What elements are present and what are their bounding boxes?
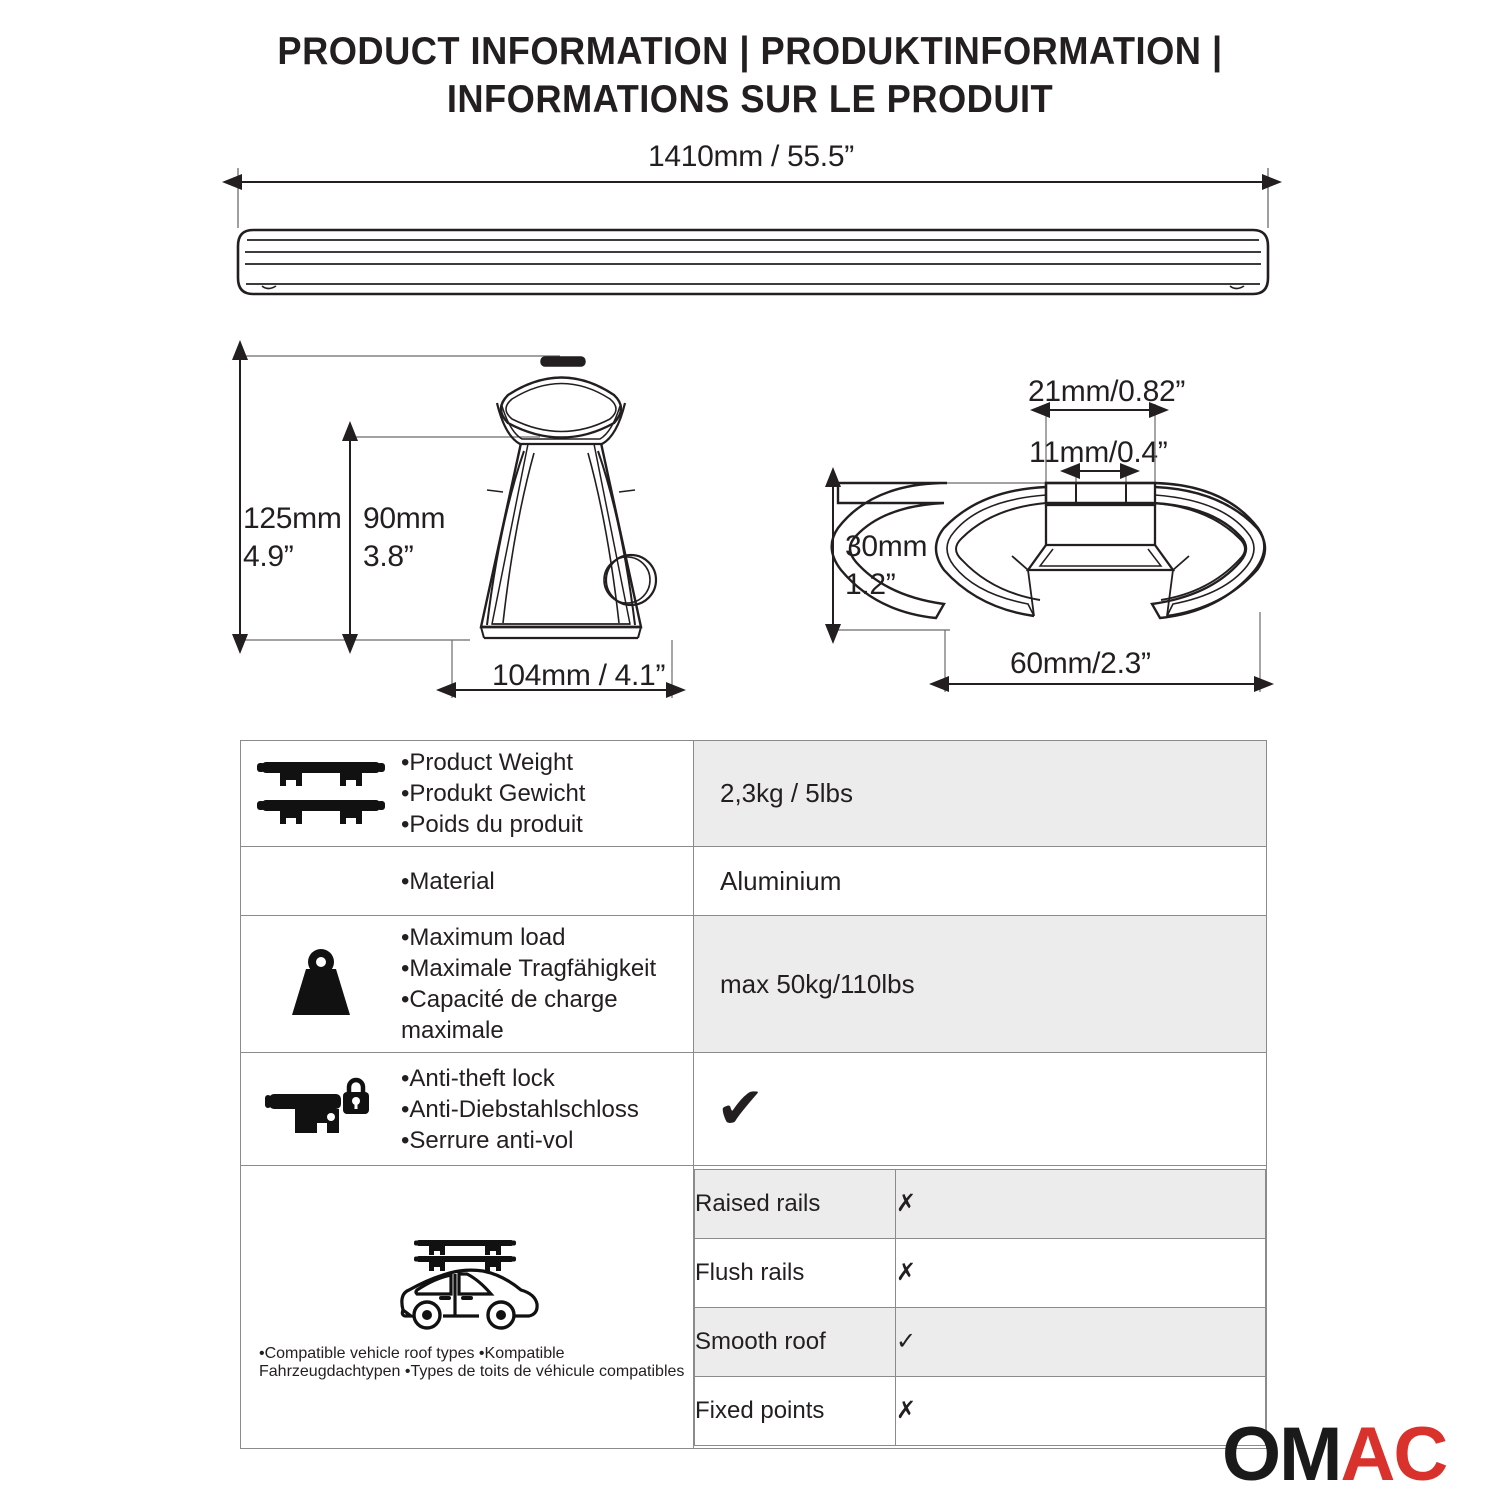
weight-kettlebell-icon — [241, 945, 401, 1023]
roof-type-name: Flush rails — [695, 1238, 896, 1307]
title-line-2: INFORMATIONS SUR LE PRODUIT — [53, 76, 1448, 124]
profile-top-width-label: 21mm/0.82” — [1028, 373, 1185, 411]
foot-total-height-label: 125mm 4.9” — [243, 500, 342, 576]
roof-type-row-fixed-points: Fixed points ✗ — [695, 1376, 1266, 1445]
table-row-product-weight: •Product Weight •Produkt Gewicht •Poids … — [241, 741, 1267, 847]
roof-type-row-flush-rails: Flush rails ✗ — [695, 1238, 1266, 1307]
bar-with-padlock-icon — [241, 1074, 401, 1144]
table-row-roof-types: •Compatible vehicle roof types •Kompatib… — [241, 1166, 1267, 1449]
anti-theft-lock-label: •Anti-theft lock •Anti-Diebstahlschloss … — [401, 1057, 693, 1162]
product-weight-value: 2,3kg / 5lbs — [694, 778, 1266, 809]
maximum-load-label: •Maximum load •Maximale Tragfähigkeit •C… — [401, 916, 693, 1052]
roof-type-row-smooth-roof: Smooth roof ✓ — [695, 1307, 1266, 1376]
omac-logo: OM AC — [1222, 1418, 1446, 1492]
roof-types-label: •Compatible vehicle roof types •Kompatib… — [247, 1345, 687, 1381]
roof-type-name: Smooth roof — [695, 1307, 896, 1376]
anti-theft-lock-checkmark: ✔ — [694, 1080, 1266, 1138]
product-spec-table: •Product Weight •Produkt Gewicht •Poids … — [240, 740, 1267, 1449]
car-with-roof-rack-icon — [387, 1232, 547, 1337]
foot-inner-height-label: 90mm 3.8” — [363, 500, 445, 576]
roof-type-mark: ✗ — [896, 1376, 1266, 1445]
roof-type-name: Fixed points — [695, 1376, 896, 1445]
logo-text-red: AC — [1340, 1417, 1446, 1493]
profile-width-label: 60mm/2.3” — [1010, 645, 1151, 683]
logo-text-black: OM — [1222, 1417, 1340, 1493]
roof-type-mark: ✓ — [896, 1307, 1266, 1376]
bar-length-label: 1410mm / 55.5” — [648, 138, 854, 176]
roof-type-row-raised-rails: Raised rails ✗ — [695, 1169, 1266, 1238]
table-row-material: •Material Aluminium — [241, 847, 1267, 916]
product-weight-label: •Product Weight •Produkt Gewicht •Poids … — [401, 741, 693, 846]
roof-type-mark: ✗ — [896, 1169, 1266, 1238]
roof-type-name: Raised rails — [695, 1169, 896, 1238]
roof-type-mark: ✗ — [896, 1238, 1266, 1307]
material-value: Aluminium — [694, 866, 1266, 897]
title-line-1: PRODUCT INFORMATION | PRODUKTINFORMATION… — [53, 28, 1448, 76]
material-label: •Material — [401, 860, 693, 903]
table-row-maximum-load: •Maximum load •Maximale Tragfähigkeit •C… — [241, 916, 1267, 1053]
profile-slot-width-label: 11mm/0.4” — [1029, 434, 1167, 472]
two-crossbars-icon — [241, 756, 401, 832]
maximum-load-value: max 50kg/110lbs — [694, 969, 1266, 1000]
page-title: PRODUCT INFORMATION | PRODUKTINFORMATION… — [0, 28, 1500, 124]
foot-width-label: 104mm / 4.1” — [492, 657, 665, 695]
table-row-anti-theft-lock: •Anti-theft lock •Anti-Diebstahlschloss … — [241, 1053, 1267, 1166]
profile-height-label: 30mm 1.2” — [845, 528, 927, 604]
roof-type-subtable: Raised rails ✗ Flush rails ✗ Smooth roof… — [694, 1169, 1266, 1446]
